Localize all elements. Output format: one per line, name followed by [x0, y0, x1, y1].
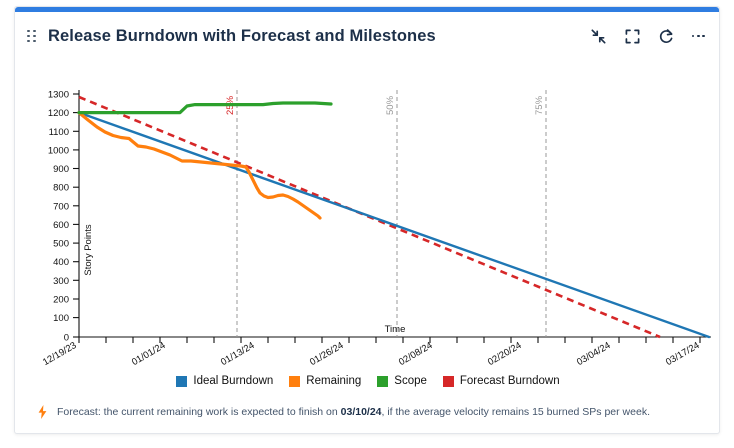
- legend-item-ideal-burndown[interactable]: Ideal Burndown: [176, 375, 273, 387]
- svg-text:01/26/24: 01/26/24: [308, 340, 346, 368]
- y-axis-ticks: 1300 1200 1100 1000 900 800 700 600 500 …: [48, 90, 79, 344]
- svg-text:03/17/24: 03/17/24: [664, 340, 702, 368]
- chart-svg: 1300 1200 1100 1000 900 800 700 600 500 …: [15, 60, 721, 372]
- milestone-lines: [237, 90, 546, 337]
- lightning-bolt-icon: [37, 405, 48, 419]
- milestone-label-75: 75%: [534, 95, 545, 115]
- svg-text:700: 700: [53, 201, 69, 212]
- more-options-icon[interactable]: [692, 28, 705, 45]
- svg-text:600: 600: [53, 220, 69, 231]
- forecast-note-suffix: , if the average velocity remains 15 bur…: [382, 406, 650, 418]
- legend-swatch-ideal-burndown: [176, 376, 187, 387]
- svg-text:100: 100: [53, 313, 69, 324]
- svg-text:01/13/24: 01/13/24: [219, 340, 257, 368]
- svg-text:1100: 1100: [49, 127, 69, 138]
- chart-panel-card: Release Burndown with Forecast and Miles…: [14, 6, 720, 434]
- legend-label-remaining: Remaining: [306, 375, 361, 387]
- collapse-icon[interactable]: [590, 28, 607, 45]
- series-ideal-burndown: [79, 113, 709, 337]
- legend-swatch-remaining: [289, 376, 300, 387]
- svg-text:01/01/24: 01/01/24: [130, 340, 168, 368]
- y-axis-title: Story Points: [83, 224, 94, 275]
- svg-text:02/20/24: 02/20/24: [486, 340, 524, 368]
- svg-text:1200: 1200: [48, 108, 69, 119]
- svg-text:1000: 1000: [48, 145, 69, 156]
- svg-text:500: 500: [53, 239, 69, 250]
- legend-swatch-forecast-burndown: [443, 376, 454, 387]
- header-actions: [590, 28, 705, 45]
- burndown-chart: 1300 1200 1100 1000 900 800 700 600 500 …: [15, 60, 721, 372]
- chart-legend: Ideal Burndown Remaining Scope Forecast …: [15, 375, 721, 387]
- legend-label-ideal-burndown: Ideal Burndown: [193, 375, 273, 387]
- legend-item-scope[interactable]: Scope: [377, 375, 427, 387]
- svg-text:400: 400: [53, 257, 69, 268]
- svg-text:03/04/24: 03/04/24: [575, 340, 613, 368]
- svg-text:12/19/23: 12/19/23: [41, 340, 79, 368]
- svg-text:900: 900: [53, 164, 69, 175]
- x-axis-title: Time: [385, 324, 406, 335]
- legend-label-scope: Scope: [394, 375, 427, 387]
- milestone-label-50: 50%: [385, 95, 396, 115]
- legend-label-forecast-burndown: Forecast Burndown: [460, 375, 560, 387]
- drag-handle-icon[interactable]: [27, 28, 37, 44]
- svg-text:1300: 1300: [48, 90, 69, 101]
- forecast-finish-date: 03/10/24: [341, 406, 382, 418]
- milestone-labels: 25% 50% 75%: [225, 95, 545, 115]
- series-scope: [79, 103, 331, 113]
- legend-swatch-scope: [377, 376, 388, 387]
- legend-item-remaining[interactable]: Remaining: [289, 375, 361, 387]
- forecast-note-prefix: Forecast: the current remaining work is …: [57, 406, 341, 418]
- series-remaining: [79, 113, 320, 218]
- svg-text:300: 300: [53, 276, 69, 287]
- svg-text:800: 800: [53, 183, 69, 194]
- forecast-note-text: Forecast: the current remaining work is …: [57, 406, 650, 418]
- x-axis-tick-labels: 12/19/23 01/01/24 01/13/24 01/26/24 02/0…: [41, 340, 702, 368]
- chart-axes: [79, 90, 711, 337]
- page-title: Release Burndown with Forecast and Miles…: [48, 27, 436, 46]
- svg-text:200: 200: [53, 295, 69, 306]
- legend-item-forecast-burndown[interactable]: Forecast Burndown: [443, 375, 560, 387]
- forecast-note: Forecast: the current remaining work is …: [15, 405, 721, 419]
- panel-header: Release Burndown with Forecast and Miles…: [15, 12, 719, 60]
- refresh-icon[interactable]: [658, 28, 675, 45]
- svg-text:02/08/24: 02/08/24: [397, 340, 435, 368]
- fullscreen-icon[interactable]: [624, 28, 641, 45]
